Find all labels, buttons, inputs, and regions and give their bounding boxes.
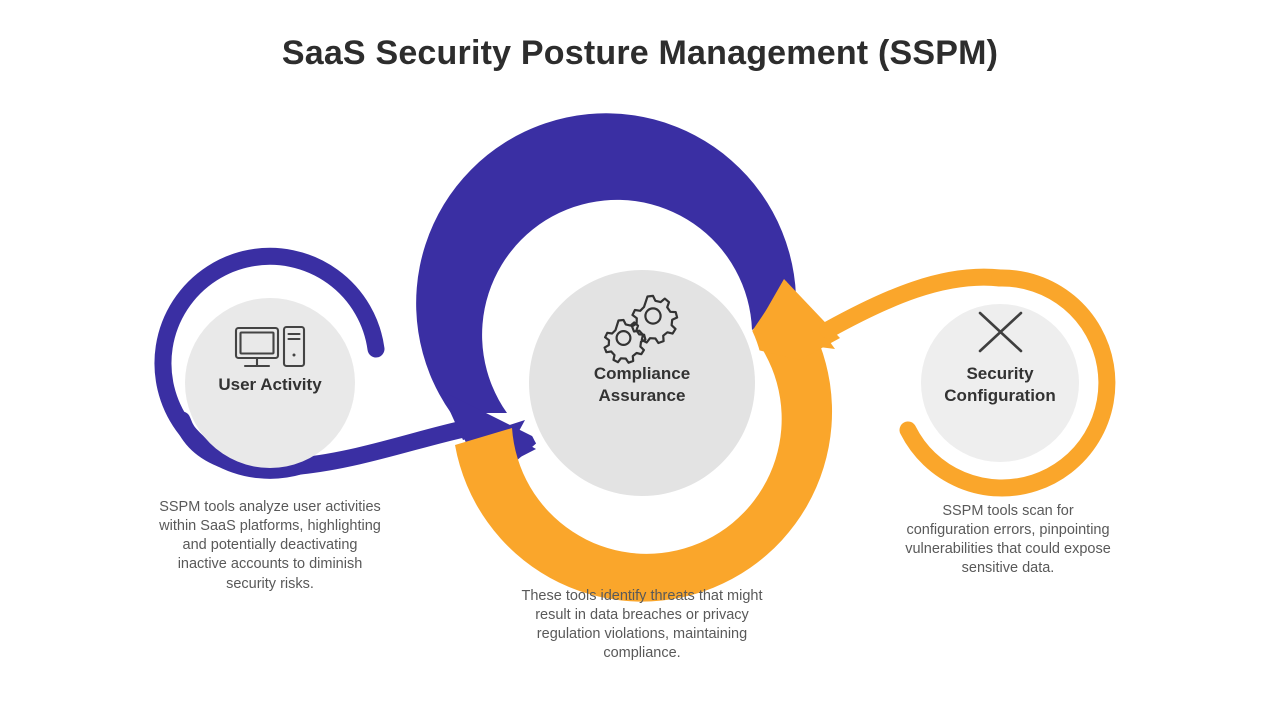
caption-compliance-assurance: These tools identify threats that might …: [508, 587, 776, 664]
node-security-configuration[interactable]: Security Configuration: [828, 277, 1107, 488]
slide-canvas: SaaS Security Posture Management (SSPM): [0, 0, 1280, 720]
caption-security-configuration: SSPM tools scan for configuration errors…: [900, 502, 1116, 579]
label-security-configuration-line1: Security: [966, 364, 1034, 383]
label-compliance-assurance-line1: Compliance: [594, 364, 690, 383]
label-user-activity: User Activity: [218, 375, 322, 394]
caption-user-activity: SSPM tools analyze user activities withi…: [158, 498, 382, 594]
label-security-configuration-line2: Configuration: [944, 386, 1055, 405]
circle-security-configuration: [921, 304, 1079, 462]
circle-compliance-assurance: [529, 270, 755, 496]
center-cycle: Compliance Assurance: [416, 113, 840, 601]
label-compliance-assurance-line2: Assurance: [599, 386, 686, 405]
